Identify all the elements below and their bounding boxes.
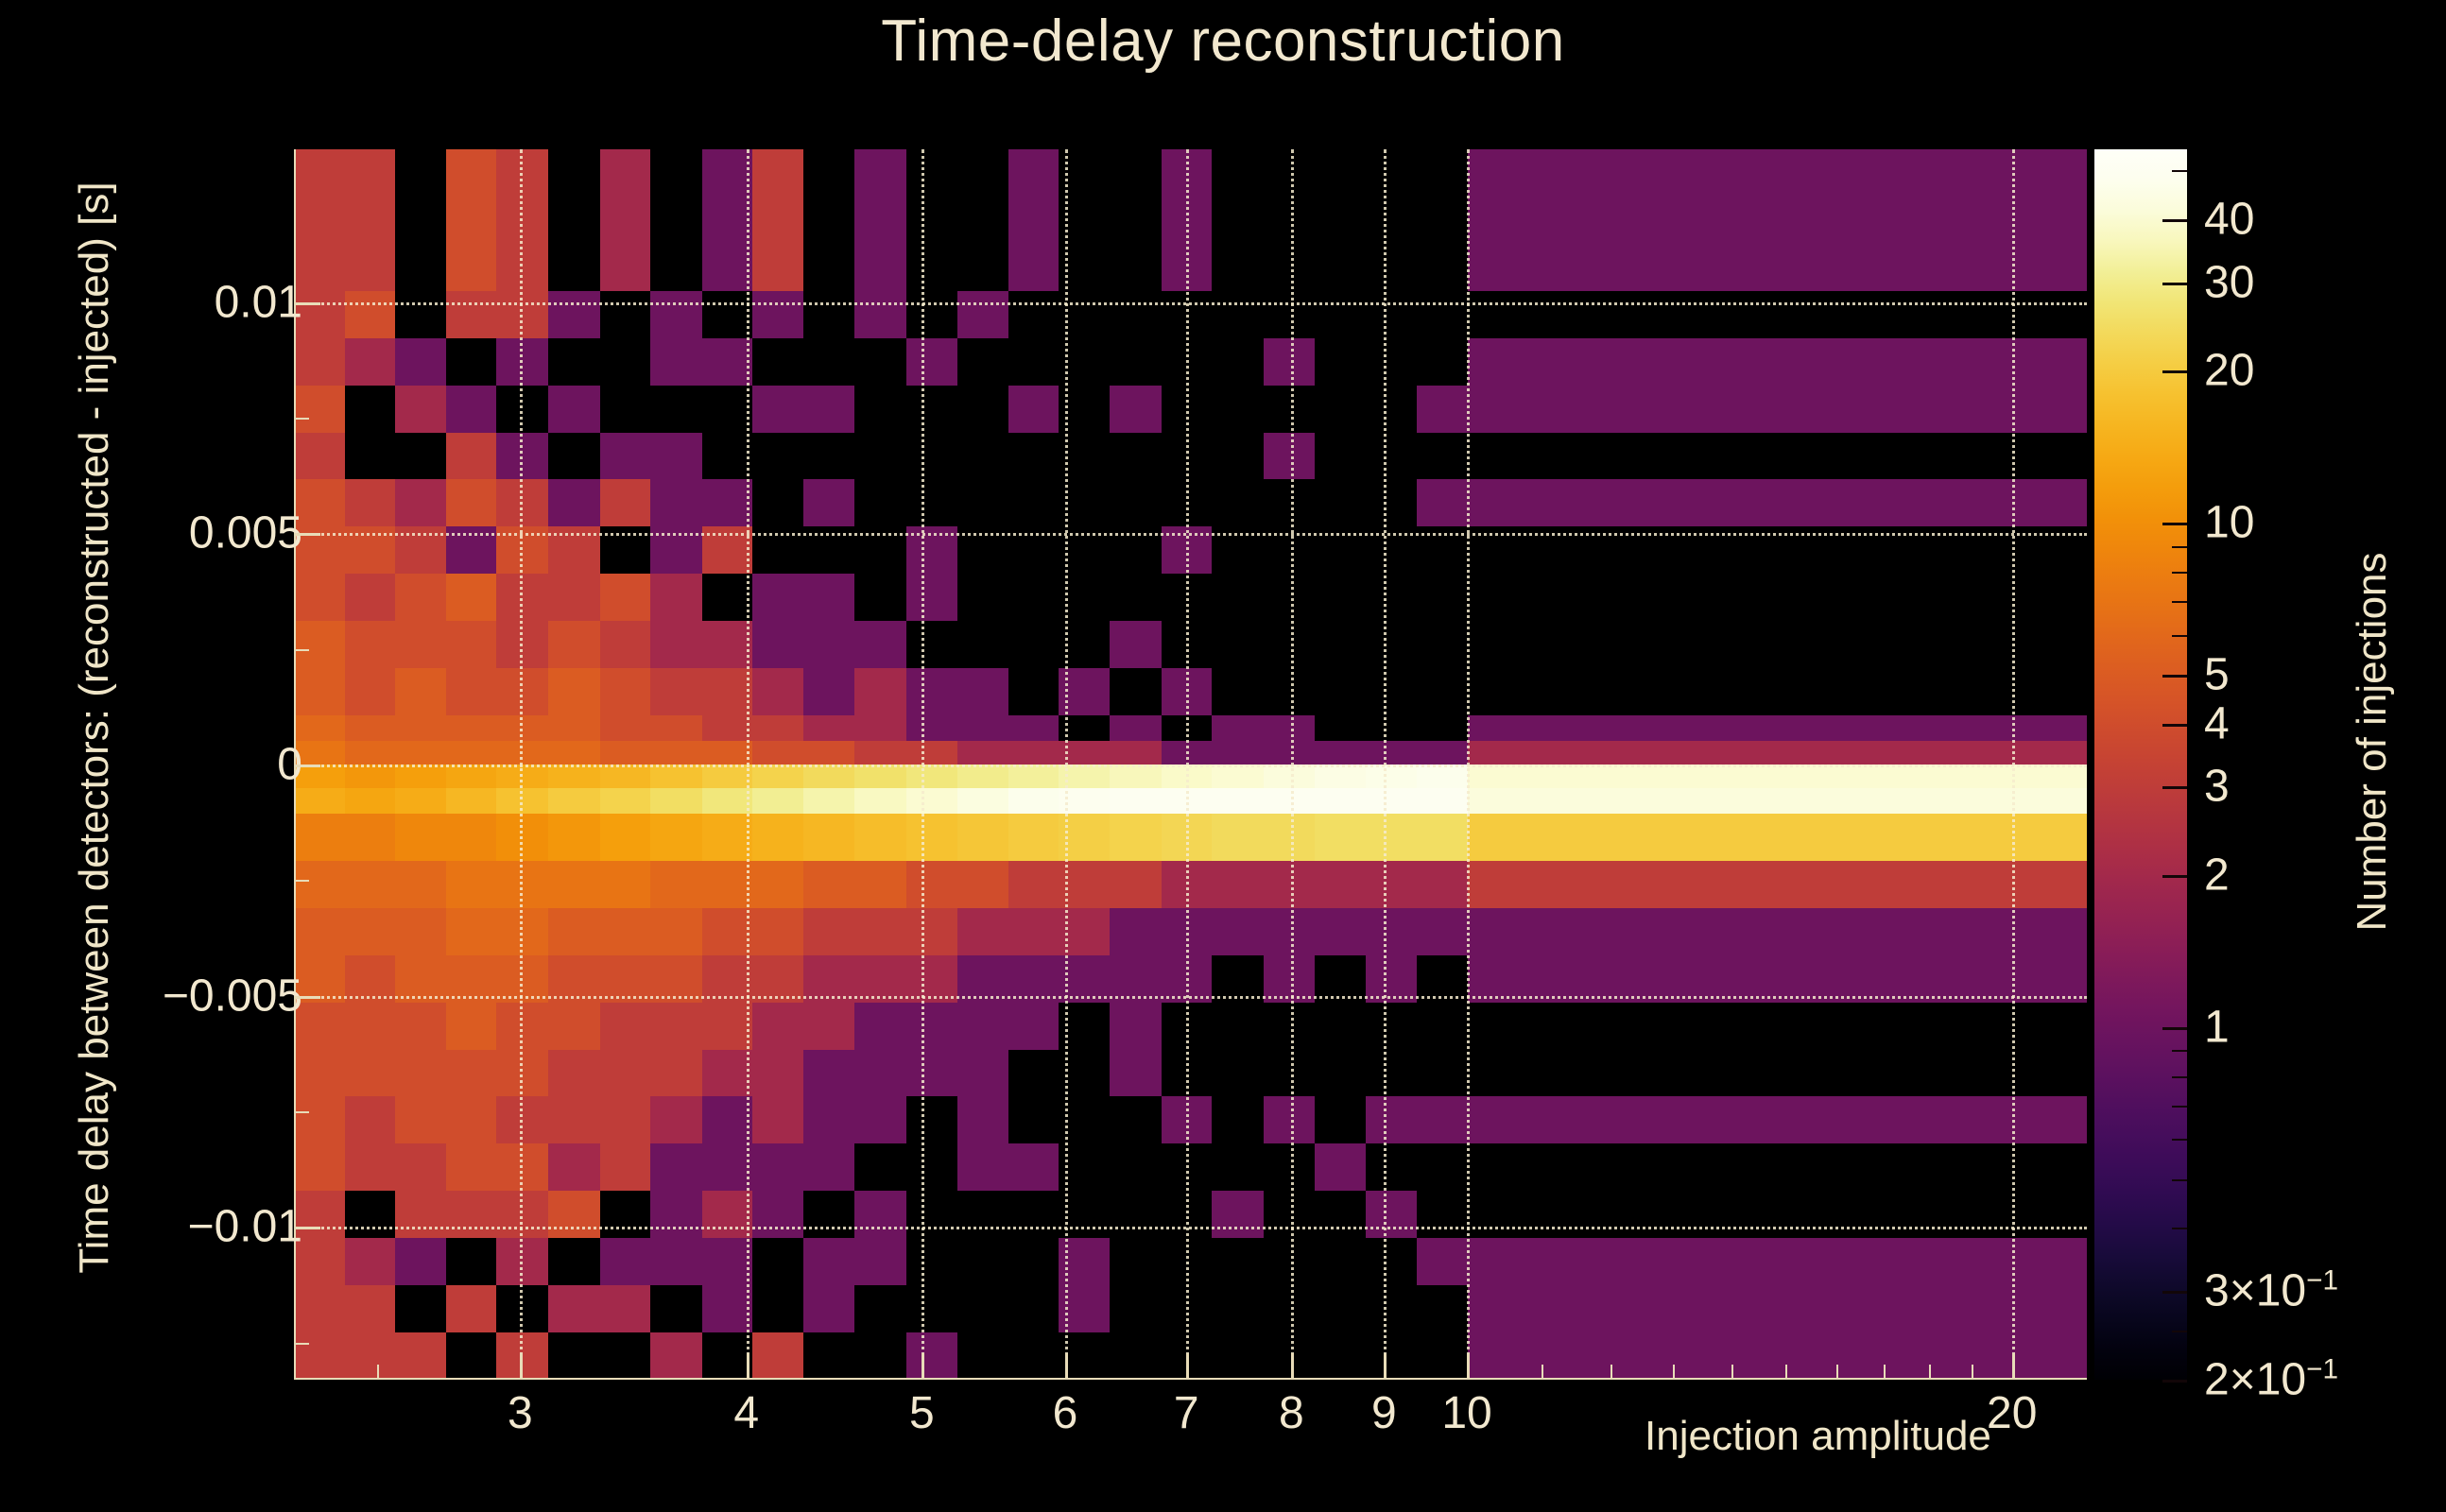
heatmap-cell bbox=[752, 291, 804, 339]
heatmap-cell bbox=[854, 621, 906, 669]
heatmap-cell bbox=[1212, 1096, 1264, 1144]
heatmap-cell bbox=[650, 291, 702, 339]
y-tick-minor-mark bbox=[294, 880, 309, 882]
heatmap-cell bbox=[1315, 479, 1366, 527]
y-tick-label: −0.01 bbox=[19, 1201, 302, 1253]
heatmap-cell bbox=[957, 1050, 1008, 1098]
heatmap-cell bbox=[600, 386, 651, 434]
heatmap-cell bbox=[1059, 433, 1111, 481]
heatmap-cell bbox=[957, 386, 1008, 434]
heatmap-cell bbox=[906, 765, 958, 789]
heatmap-cell bbox=[854, 526, 906, 575]
heatmap-cell bbox=[294, 386, 345, 434]
heatmap-cell bbox=[1417, 765, 1469, 789]
colorbar-tick-label: 10 bbox=[2204, 497, 2254, 549]
heatmap-cell bbox=[752, 1285, 804, 1333]
heatmap-cell bbox=[1110, 574, 1162, 622]
heatmap-cell bbox=[1008, 955, 1059, 1004]
x-tick-label: 9 bbox=[1371, 1387, 1397, 1439]
colorbar-tick-minor-mark bbox=[2172, 1076, 2187, 1078]
heatmap-cell bbox=[906, 1332, 958, 1380]
heatmap-cell bbox=[1264, 955, 1316, 1004]
x-tick-mark bbox=[922, 1353, 924, 1380]
heatmap-cell bbox=[1059, 814, 1111, 862]
heatmap-cell bbox=[1264, 741, 1316, 765]
heatmap-cell bbox=[702, 955, 753, 1004]
colorbar-tick-minor-mark bbox=[2172, 1139, 2187, 1141]
heatmap-cell bbox=[702, 788, 753, 815]
heatmap-cell bbox=[854, 955, 906, 1004]
heatmap-cell bbox=[752, 1096, 804, 1144]
heatmap-cell bbox=[1162, 765, 1213, 789]
heatmap-cell bbox=[1212, 526, 1264, 575]
heatmap-cell bbox=[1212, 668, 1264, 716]
heatmap-cell bbox=[294, 1285, 345, 1333]
heatmap-cell bbox=[1162, 1143, 1213, 1192]
heatmap-cell bbox=[1162, 291, 1213, 339]
heatmap-cell bbox=[957, 908, 1008, 956]
heatmap-cell bbox=[1008, 908, 1059, 956]
heatmap-cell bbox=[1264, 526, 1316, 575]
heatmap-cell bbox=[906, 1003, 958, 1051]
heatmap-cell bbox=[600, 788, 651, 815]
heatmap-cell bbox=[496, 741, 549, 765]
heatmap-cell bbox=[1468, 1050, 2087, 1098]
heatmap-cell bbox=[294, 814, 345, 862]
x-tick-mark bbox=[2012, 1353, 2015, 1380]
heatmap-cell bbox=[1315, 1050, 1366, 1098]
heatmap-cell bbox=[702, 1285, 753, 1333]
heatmap-cell bbox=[1008, 149, 1059, 291]
heatmap-cell bbox=[957, 338, 1008, 387]
colorbar-tick-minor-mark bbox=[2172, 1050, 2187, 1052]
x-tick-minor-mark bbox=[377, 1365, 379, 1380]
heatmap-cell bbox=[1417, 1096, 1469, 1144]
heatmap-cell bbox=[1315, 149, 1366, 291]
heatmap-cell bbox=[854, 479, 906, 527]
heatmap-cell bbox=[752, 479, 804, 527]
heatmap-cell bbox=[1264, 1050, 1316, 1098]
heatmap-cell bbox=[650, 1050, 702, 1098]
heatmap-cell bbox=[600, 908, 651, 956]
heatmap-cell bbox=[294, 574, 345, 622]
heatmap-cell bbox=[395, 788, 446, 815]
heatmap-cell bbox=[1110, 741, 1162, 765]
heatmap-cell bbox=[548, 386, 600, 434]
heatmap-cell bbox=[1468, 1143, 2087, 1192]
heatmap-cell bbox=[803, 386, 855, 434]
heatmap-cell bbox=[650, 1096, 702, 1144]
heatmap-cell bbox=[1468, 788, 2087, 815]
heatmap-cell bbox=[1417, 1238, 1469, 1286]
heatmap-cell bbox=[650, 788, 702, 815]
heatmap-cell bbox=[1059, 1050, 1111, 1098]
heatmap-cell bbox=[1366, 1191, 1418, 1239]
heatmap-cell bbox=[1468, 149, 2087, 291]
heatmap-cell bbox=[294, 668, 345, 716]
heatmap-cell bbox=[548, 1285, 600, 1333]
heatmap-cell bbox=[548, 291, 600, 339]
heatmap-cell bbox=[1162, 1003, 1213, 1051]
colorbar-tick-label: 2 bbox=[2204, 850, 2230, 902]
heatmap-cell bbox=[803, 861, 855, 909]
x-tick-minor-mark bbox=[1673, 1365, 1675, 1380]
heatmap-cell bbox=[906, 526, 958, 575]
heatmap-cell bbox=[496, 433, 549, 481]
heatmap-cell bbox=[345, 814, 396, 862]
heatmap-cell bbox=[957, 1285, 1008, 1333]
heatmap-cell bbox=[957, 621, 1008, 669]
x-tick-mark bbox=[520, 1353, 523, 1380]
heatmap-cell bbox=[650, 1143, 702, 1192]
colorbar-gradient bbox=[2094, 149, 2187, 1380]
y-tick-label: 0.005 bbox=[19, 507, 302, 559]
heatmap-cell bbox=[345, 433, 396, 481]
x-tick-mark bbox=[747, 1353, 749, 1380]
heatmap-cell bbox=[1059, 861, 1111, 909]
heatmap-cell bbox=[957, 526, 1008, 575]
heatmap-cell bbox=[395, 1143, 446, 1192]
heatmap-cell bbox=[1212, 1143, 1264, 1192]
heatmap-cell bbox=[1468, 1238, 2087, 1286]
colorbar-tick-mark bbox=[2162, 1291, 2187, 1294]
heatmap-cell bbox=[548, 1191, 600, 1239]
heatmap-cell bbox=[803, 715, 855, 742]
heatmap-cell bbox=[1366, 955, 1418, 1004]
heatmap-cell bbox=[906, 1191, 958, 1239]
x-tick-label: 5 bbox=[909, 1387, 935, 1439]
heatmap-cell bbox=[395, 1096, 446, 1144]
heatmap-cell bbox=[957, 668, 1008, 716]
heatmap-cell bbox=[854, 765, 906, 789]
heatmap-cell bbox=[600, 1143, 651, 1192]
heatmap-cell bbox=[395, 861, 446, 909]
heatmap-cell bbox=[906, 1285, 958, 1333]
x-tick-mark bbox=[1291, 1353, 1294, 1380]
heatmap-cell bbox=[1315, 526, 1366, 575]
heatmap-cell bbox=[854, 291, 906, 339]
heatmap-cell bbox=[906, 338, 958, 387]
heatmap-cell bbox=[702, 1003, 753, 1051]
heatmap-cell bbox=[803, 1238, 855, 1286]
heatmap-cell bbox=[702, 149, 753, 291]
colorbar-tick-mark bbox=[2162, 724, 2187, 727]
heatmap-cell bbox=[702, 1096, 753, 1144]
heatmap-cell bbox=[1110, 1285, 1162, 1333]
heatmap-cell bbox=[702, 386, 753, 434]
heatmap-cell bbox=[496, 291, 549, 339]
heatmap-cell bbox=[1468, 574, 2087, 622]
heatmap-cell bbox=[702, 861, 753, 909]
chart-canvas: Time-delay reconstruction Time delay bet… bbox=[0, 0, 2446, 1512]
heatmap-cell bbox=[906, 715, 958, 742]
heatmap-cell bbox=[854, 715, 906, 742]
heatmap-cell bbox=[548, 861, 600, 909]
heatmap-cell bbox=[496, 788, 549, 815]
heatmap-cell bbox=[600, 526, 651, 575]
heatmap-cell bbox=[752, 668, 804, 716]
heatmap-cell bbox=[752, 765, 804, 789]
heatmap-cell bbox=[600, 715, 651, 742]
heatmap-cell bbox=[854, 861, 906, 909]
y-tick-minor-mark bbox=[294, 418, 309, 420]
heatmap-cell bbox=[345, 861, 396, 909]
heatmap-cell bbox=[345, 291, 396, 339]
x-tick-minor-mark bbox=[1972, 1365, 1973, 1380]
heatmap-cell bbox=[803, 338, 855, 387]
heatmap-cell bbox=[1315, 621, 1366, 669]
heatmap-cell bbox=[1162, 1191, 1213, 1239]
heatmap-cell bbox=[650, 621, 702, 669]
colorbar-tick-mark bbox=[2162, 875, 2187, 878]
heatmap-cell bbox=[496, 149, 549, 291]
heatmap-cell bbox=[1264, 621, 1316, 669]
heatmap-cell bbox=[1366, 149, 1418, 291]
heatmap-cell bbox=[803, 1096, 855, 1144]
heatmap-cell bbox=[752, 715, 804, 742]
heatmap-cell bbox=[650, 338, 702, 387]
heatmap-cell bbox=[345, 1143, 396, 1192]
heatmap-cell bbox=[548, 338, 600, 387]
heatmap-cell bbox=[1417, 741, 1469, 765]
heatmap-cell bbox=[752, 1332, 804, 1380]
colorbar[interactable] bbox=[2094, 149, 2187, 1380]
heatmap-cell bbox=[1162, 338, 1213, 387]
heatmap-cell bbox=[1315, 1143, 1366, 1192]
heatmap-cell bbox=[496, 765, 549, 789]
heatmap-cell bbox=[650, 479, 702, 527]
heatmap-cell bbox=[395, 621, 446, 669]
heatmap-cell bbox=[1059, 955, 1111, 1004]
heatmap-cell bbox=[1008, 741, 1059, 765]
heatmap-cell bbox=[1264, 1003, 1316, 1051]
heatmap-cell bbox=[446, 479, 497, 527]
heatmap-cell bbox=[294, 861, 345, 909]
heatmap-cell bbox=[1417, 291, 1469, 339]
heatmap-cell bbox=[1008, 1003, 1059, 1051]
heatmap-cell bbox=[906, 149, 958, 291]
x-axis-title: Injection amplitude bbox=[1645, 1413, 1991, 1460]
heatmap-cell bbox=[1212, 479, 1264, 527]
heatmap-cell bbox=[496, 1238, 549, 1286]
heatmap-cell bbox=[496, 526, 549, 575]
y-tick-minor-mark bbox=[294, 1343, 309, 1345]
colorbar-tick-label: 2×10−1 bbox=[2204, 1354, 2338, 1406]
heatmap-cell bbox=[1110, 526, 1162, 575]
heatmap-cell bbox=[1162, 149, 1213, 291]
heatmap-cell bbox=[1212, 814, 1264, 862]
heatmap-cell bbox=[906, 741, 958, 765]
heatmap-cell bbox=[600, 1096, 651, 1144]
heatmap-cell bbox=[957, 1096, 1008, 1144]
heatmap-cell bbox=[1212, 861, 1264, 909]
heatmap-cell bbox=[906, 433, 958, 481]
heatmap-cell bbox=[1264, 1238, 1316, 1286]
heatmap-cell bbox=[752, 149, 804, 291]
heatmap-cell bbox=[702, 1238, 753, 1286]
heatmap-cell bbox=[1264, 574, 1316, 622]
heatmap-cell bbox=[1468, 338, 2087, 387]
heatmap-cell bbox=[1059, 765, 1111, 789]
heatmap-cell bbox=[1366, 1096, 1418, 1144]
heatmap-cell bbox=[1059, 1096, 1111, 1144]
colorbar-tick-minor-mark bbox=[2172, 1228, 2187, 1229]
x-tick-minor-mark bbox=[1731, 1365, 1733, 1380]
heatmap-cell bbox=[1366, 741, 1418, 765]
heatmap-cell bbox=[1366, 479, 1418, 527]
heatmap-cell bbox=[1468, 741, 2087, 765]
heatmap-cell bbox=[1366, 433, 1418, 481]
x-tick-mark bbox=[1467, 1353, 1470, 1380]
heatmap-cell bbox=[395, 386, 446, 434]
heatmap-cell bbox=[1366, 861, 1418, 909]
heatmap-cell bbox=[1059, 668, 1111, 716]
heatmap-cell bbox=[906, 574, 958, 622]
heatmap-cell bbox=[752, 1050, 804, 1098]
heatmap-cell bbox=[1059, 526, 1111, 575]
heatmap-cell bbox=[854, 741, 906, 765]
heatmap-cell bbox=[1468, 621, 2087, 669]
colorbar-tick-label: 3 bbox=[2204, 761, 2230, 813]
heatmap-cell bbox=[1110, 338, 1162, 387]
heatmap-cell bbox=[1315, 291, 1366, 339]
heatmap-cell bbox=[1264, 908, 1316, 956]
heatmap-cell bbox=[446, 574, 497, 622]
heatmap-cell bbox=[1162, 814, 1213, 862]
heatmap-cell bbox=[446, 621, 497, 669]
colorbar-tick-minor-mark bbox=[2172, 1106, 2187, 1108]
heatmap-cell bbox=[600, 574, 651, 622]
heatmap-cells bbox=[294, 149, 2087, 1380]
heatmap-cell bbox=[650, 1003, 702, 1051]
heatmap-cell bbox=[345, 1285, 396, 1333]
colorbar-tick-label: 30 bbox=[2204, 256, 2254, 308]
heatmap-cell bbox=[1212, 1238, 1264, 1286]
y-tick-minor-mark bbox=[294, 1111, 309, 1113]
heatmap-cell bbox=[496, 574, 549, 622]
heatmap-cell bbox=[650, 715, 702, 742]
heatmap-cell bbox=[1008, 621, 1059, 669]
heatmap-cell bbox=[395, 1050, 446, 1098]
heatmap-cell bbox=[600, 1285, 651, 1333]
heatmap-cell bbox=[1366, 814, 1418, 862]
heatmap-cell bbox=[345, 1050, 396, 1098]
heatmap-cell bbox=[1162, 788, 1213, 815]
heatmap-cell bbox=[1366, 1143, 1418, 1192]
heatmap-cell bbox=[446, 908, 497, 956]
heatmap-cell bbox=[395, 526, 446, 575]
heatmap-cell bbox=[702, 621, 753, 669]
heatmap-cell bbox=[803, 621, 855, 669]
heatmap-cell bbox=[957, 1332, 1008, 1380]
heatmap-cell bbox=[294, 149, 345, 291]
heatmap-cell bbox=[600, 861, 651, 909]
heatmap-cell bbox=[1162, 908, 1213, 956]
heatmap-cell bbox=[345, 741, 396, 765]
heatmap-cell bbox=[1110, 788, 1162, 815]
heatmap-cell bbox=[1468, 668, 2087, 716]
heatmap-cell bbox=[395, 574, 446, 622]
heatmap-cell bbox=[803, 433, 855, 481]
y-tick-mark bbox=[294, 533, 320, 536]
heatmap-cell bbox=[446, 1191, 497, 1239]
heatmap-cell bbox=[906, 1096, 958, 1144]
colorbar-tick-mark bbox=[2162, 1027, 2187, 1030]
heatmap-cell bbox=[294, 1143, 345, 1192]
heatmap-cell bbox=[1008, 479, 1059, 527]
heatmap-plot-area[interactable] bbox=[294, 149, 2087, 1380]
heatmap-cell bbox=[1110, 149, 1162, 291]
heatmap-cell bbox=[957, 149, 1008, 291]
heatmap-cell bbox=[548, 788, 600, 815]
heatmap-cell bbox=[1008, 291, 1059, 339]
colorbar-tick-mark bbox=[2162, 1380, 2187, 1383]
heatmap-cell bbox=[752, 386, 804, 434]
heatmap-cell bbox=[803, 788, 855, 815]
heatmap-cell bbox=[650, 955, 702, 1004]
heatmap-cell bbox=[957, 955, 1008, 1004]
colorbar-tick-label: 20 bbox=[2204, 345, 2254, 397]
heatmap-cell bbox=[1366, 526, 1418, 575]
heatmap-cell bbox=[600, 621, 651, 669]
heatmap-cell bbox=[1110, 955, 1162, 1004]
page-title: Time-delay reconstruction bbox=[0, 8, 2446, 75]
heatmap-cell bbox=[1366, 1285, 1418, 1333]
heatmap-cell bbox=[446, 1238, 497, 1286]
heatmap-cell bbox=[906, 908, 958, 956]
heatmap-cell bbox=[1110, 1238, 1162, 1286]
heatmap-cell bbox=[1468, 1332, 2087, 1380]
heatmap-cell bbox=[1110, 1332, 1162, 1380]
colorbar-tick-minor-mark bbox=[2172, 1331, 2187, 1332]
heatmap-cell bbox=[650, 386, 702, 434]
heatmap-cell bbox=[1366, 338, 1418, 387]
heatmap-cell bbox=[548, 765, 600, 789]
heatmap-cell bbox=[1008, 715, 1059, 742]
heatmap-cell bbox=[548, 1050, 600, 1098]
heatmap-cell bbox=[752, 1143, 804, 1192]
heatmap-cell bbox=[854, 1096, 906, 1144]
heatmap-cell bbox=[548, 668, 600, 716]
heatmap-cell bbox=[1162, 386, 1213, 434]
heatmap-cell bbox=[496, 1191, 549, 1239]
heatmap-cell bbox=[1162, 861, 1213, 909]
colorbar-tick-minor-mark bbox=[2172, 1179, 2187, 1181]
heatmap-cell bbox=[446, 1050, 497, 1098]
heatmap-cell bbox=[1059, 788, 1111, 815]
heatmap-cell bbox=[1059, 479, 1111, 527]
heatmap-cell bbox=[548, 526, 600, 575]
y-tick-mark bbox=[294, 302, 320, 305]
heatmap-cell bbox=[752, 621, 804, 669]
heatmap-cell bbox=[1264, 386, 1316, 434]
heatmap-cell bbox=[446, 668, 497, 716]
heatmap-cell bbox=[1417, 668, 1469, 716]
heatmap-cell bbox=[1110, 814, 1162, 862]
heatmap-cell bbox=[600, 1238, 651, 1286]
heatmap-cell bbox=[906, 1238, 958, 1286]
heatmap-cell bbox=[702, 814, 753, 862]
heatmap-cell bbox=[1059, 1238, 1111, 1286]
heatmap-cell bbox=[1212, 908, 1264, 956]
heatmap-cell bbox=[803, 741, 855, 765]
heatmap-cell bbox=[548, 479, 600, 527]
heatmap-cell bbox=[803, 668, 855, 716]
heatmap-cell bbox=[1315, 433, 1366, 481]
heatmap-cell bbox=[446, 526, 497, 575]
heatmap-cell bbox=[496, 1050, 549, 1098]
heatmap-cell bbox=[345, 1096, 396, 1144]
